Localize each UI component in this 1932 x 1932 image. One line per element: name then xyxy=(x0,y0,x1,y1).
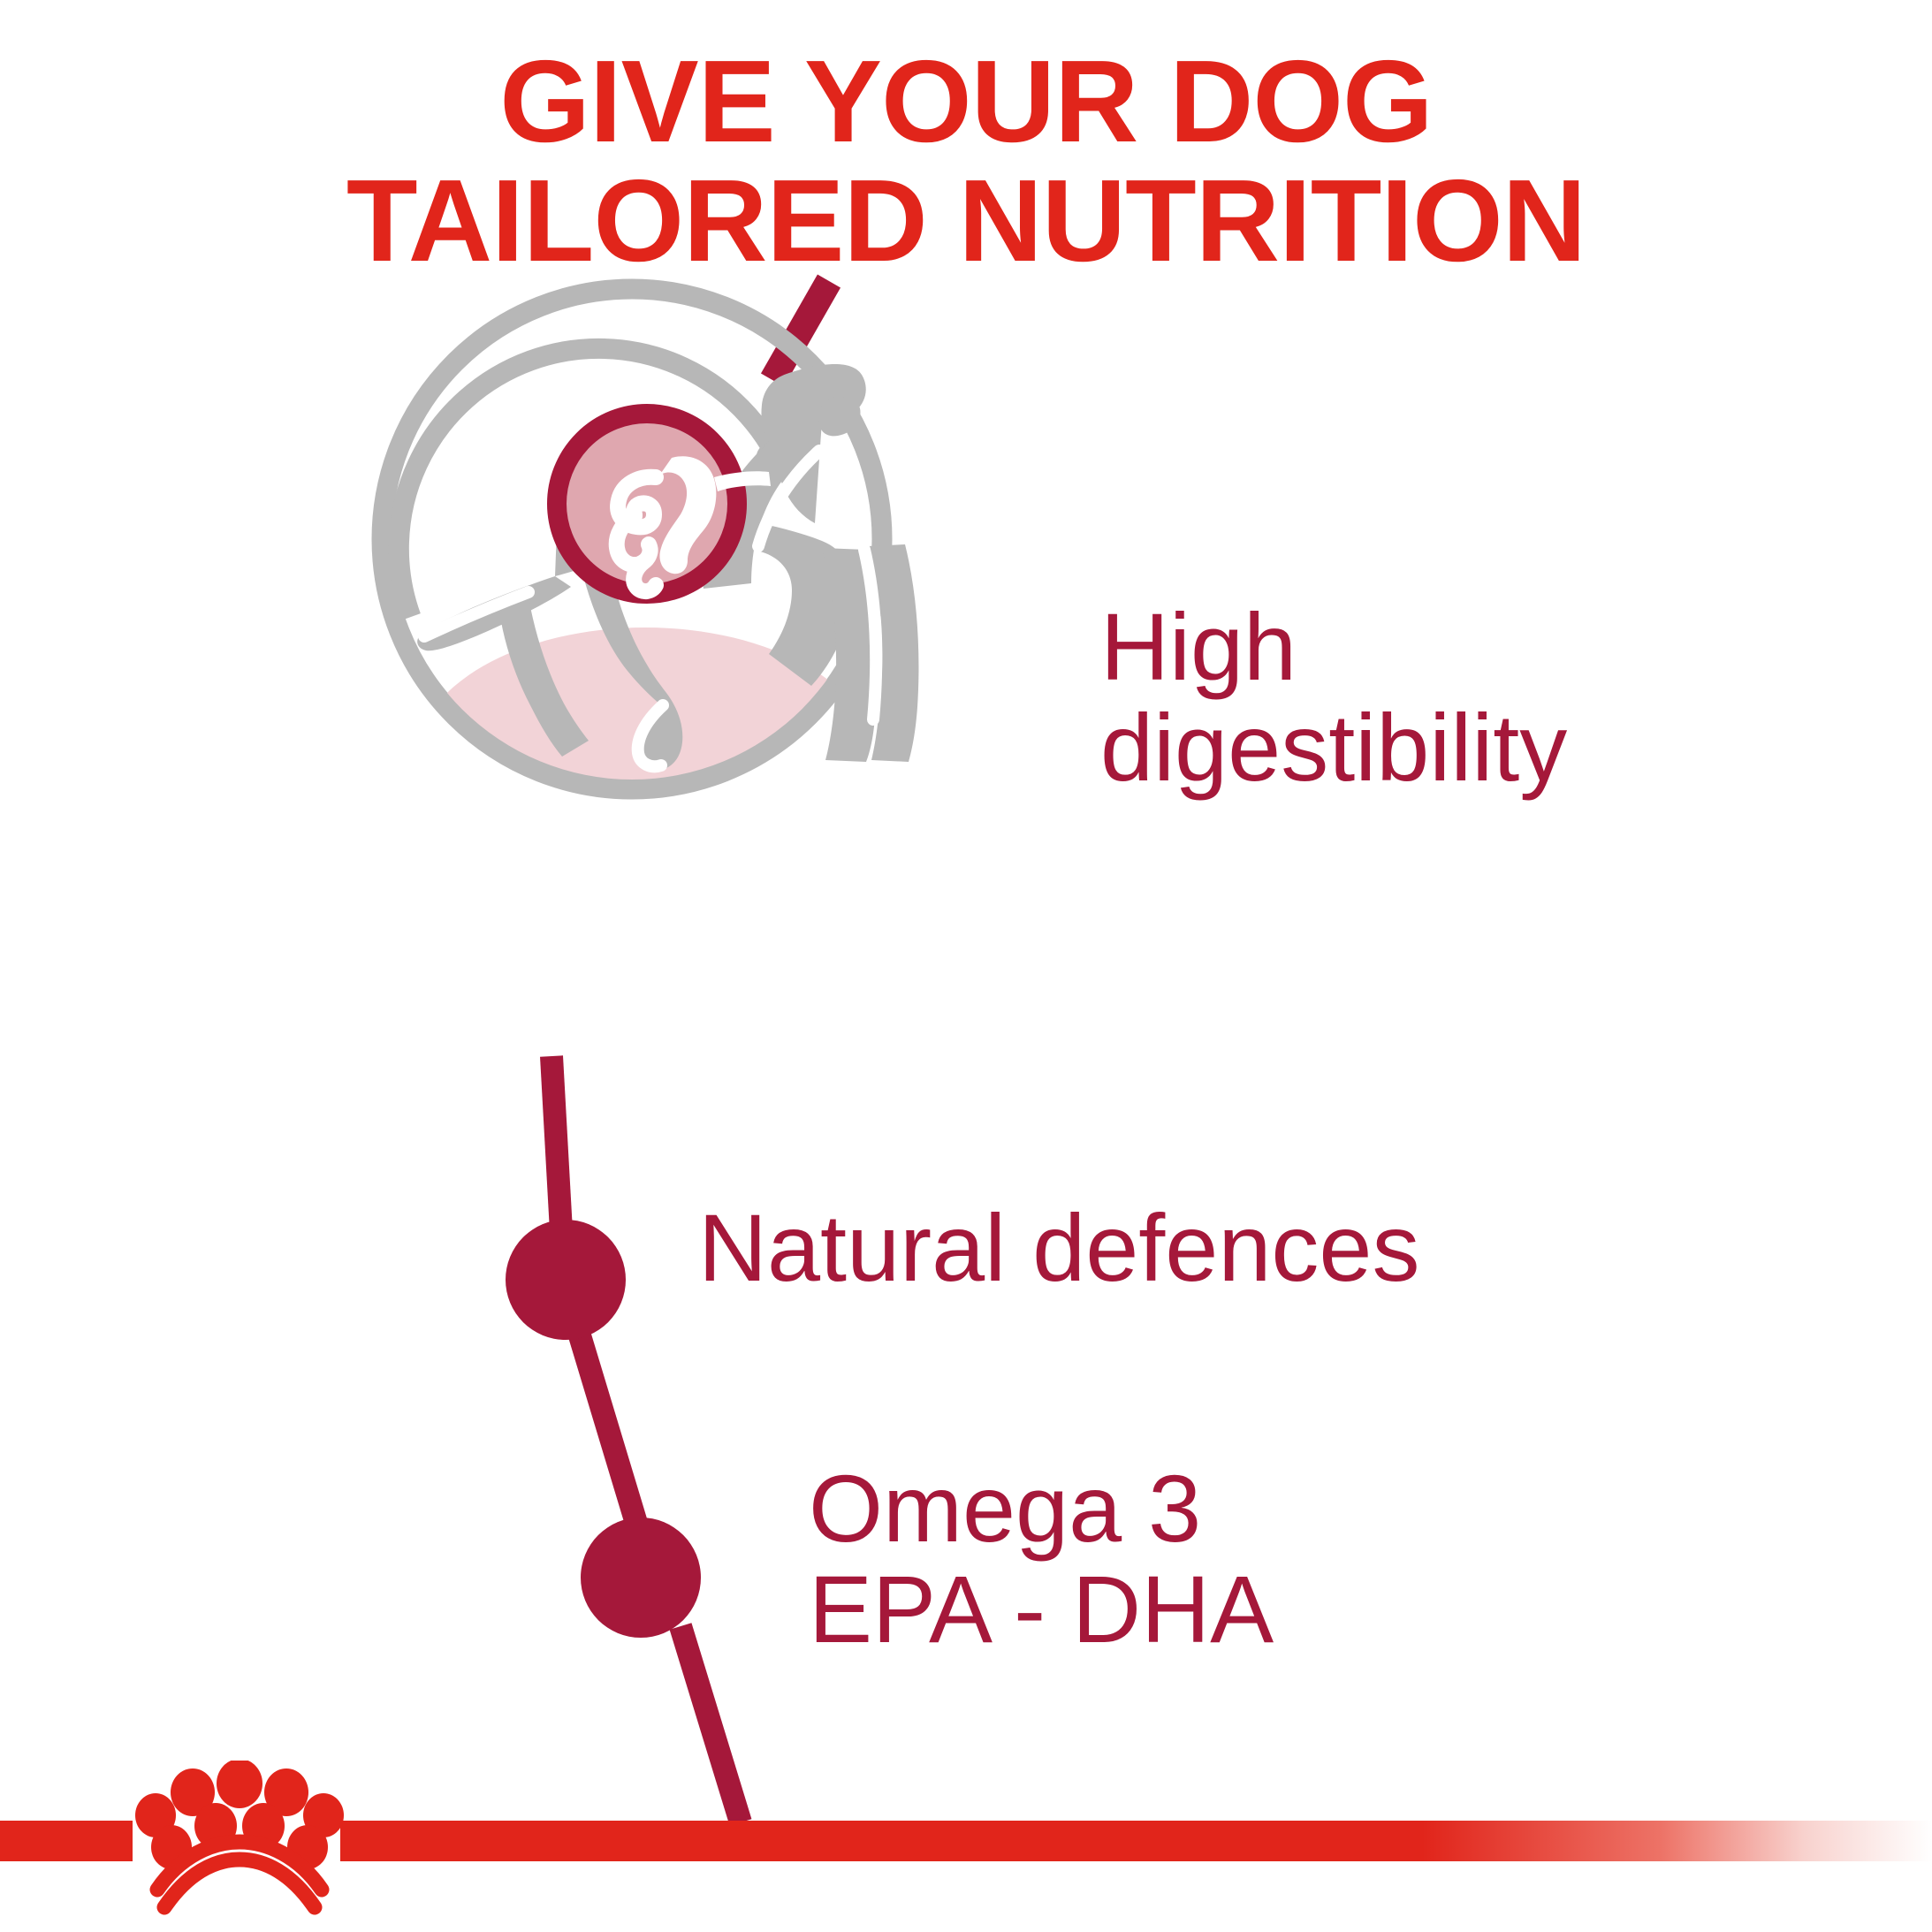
connector-segment-3 xyxy=(681,1626,741,1822)
connector-segment-1 xyxy=(551,1056,561,1231)
benefit-marker-dot-2 xyxy=(581,1517,701,1638)
marketing-banner: GIVE YOUR DOG TAILORED NUTRITION xyxy=(0,0,1932,1932)
royal-canin-crown-icon xyxy=(129,1761,350,1920)
benefit-label-natural-defences: Natural defences xyxy=(698,1198,1420,1298)
connector-segment-2 xyxy=(576,1324,638,1529)
benefit-label-omega-3: Omega 3 EPA - DHA xyxy=(809,1458,1274,1661)
benefit-label-high-digestibility: High digestibility xyxy=(1100,597,1567,799)
brand-bar-right xyxy=(340,1821,1932,1861)
benefit-marker-dot-1 xyxy=(506,1220,626,1340)
brand-bar-left xyxy=(0,1821,133,1861)
page-title: GIVE YOUR DOG TAILORED NUTRITION xyxy=(0,42,1932,280)
dog-illustration xyxy=(292,265,1025,813)
